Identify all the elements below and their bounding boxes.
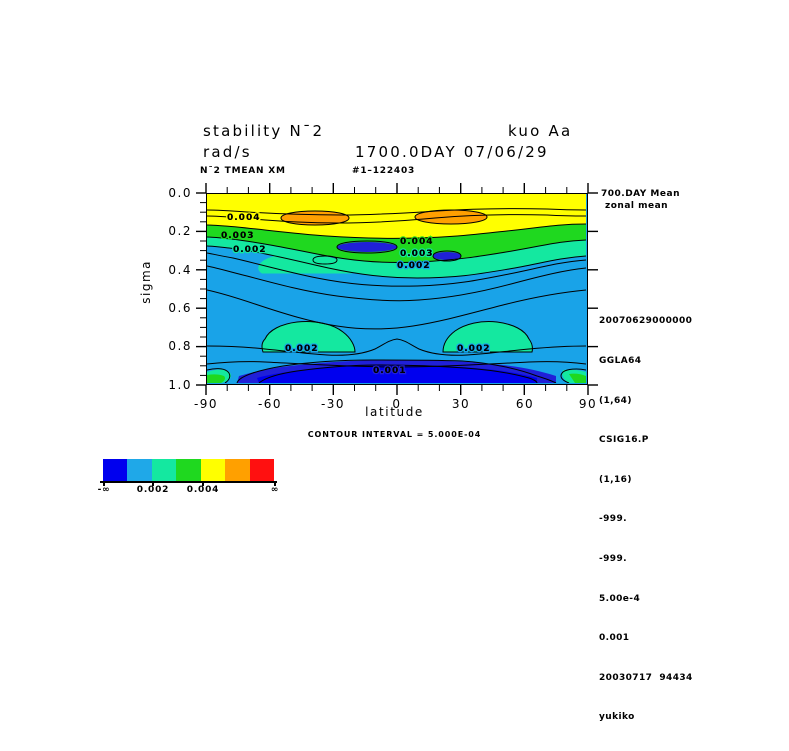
- subtitle-dataset: #1–122403: [352, 166, 415, 176]
- colorbar-swatch: [225, 459, 249, 481]
- ytick-label: 0.6: [152, 301, 192, 315]
- svg-text:0.004: 0.004: [227, 213, 260, 223]
- colorbar-swatch: [201, 459, 225, 481]
- metadata-line: 20030717 94434: [599, 672, 693, 685]
- metadata-line: -999.: [599, 553, 693, 566]
- ytick-label: 0.8: [152, 339, 192, 353]
- svg-text:0.002: 0.002: [285, 344, 318, 354]
- title-units: rad/s: [203, 143, 252, 161]
- colorbar-swatch: [250, 459, 274, 481]
- annotation-mean-period: 700.DAY Mean: [601, 189, 680, 199]
- svg-text:0.003: 0.003: [400, 249, 433, 259]
- svg-text:0.004: 0.004: [400, 237, 433, 247]
- metadata-line: yukiko: [599, 711, 693, 724]
- ytick-label: 0.0: [152, 186, 192, 200]
- contour-field: 0.004 0.004 0.003 0.003 0.002 0.002 0.00…: [207, 194, 586, 383]
- figure-canvas: stability N¯2 kuo Aa rad/s 1700.0DAY 07/…: [0, 0, 789, 558]
- colorbar-rule: [100, 481, 277, 483]
- ytick-label: 0.2: [152, 224, 192, 238]
- metadata-line: -999.: [599, 513, 693, 526]
- svg-text:0.003: 0.003: [221, 231, 254, 241]
- colorbar-label: ∞: [271, 485, 279, 495]
- y-axis-title: sigma: [139, 260, 153, 304]
- metadata-line: 5.00e-4: [599, 593, 693, 606]
- colorbar-label: -∞: [98, 485, 111, 495]
- metadata-line: GGLA64: [599, 355, 693, 368]
- ytick-label: 1.0: [152, 378, 192, 392]
- svg-text:0.002: 0.002: [397, 261, 430, 271]
- colorbar: [103, 459, 274, 481]
- colorbar-swatch: [127, 459, 151, 481]
- subtitle-variable: N¯2 TMEAN XM: [200, 166, 286, 176]
- colorbar-swatch: [176, 459, 200, 481]
- contour-plot-area: 0.004 0.004 0.003 0.003 0.002 0.002 0.00…: [206, 193, 588, 385]
- title-date: 1700.0DAY 07/06/29: [355, 143, 549, 161]
- annotation-zonal-mean: zonal mean: [605, 201, 668, 211]
- colorbar-swatch: [152, 459, 176, 481]
- title-author: kuo Aa: [508, 122, 572, 140]
- svg-text:0.002: 0.002: [457, 344, 490, 354]
- svg-text:0.002: 0.002: [233, 245, 266, 255]
- ytick-label: 0.4: [152, 263, 192, 277]
- metadata-line: (1,16): [599, 474, 693, 487]
- contour-interval-note: CONTOUR INTERVAL = 5.000E-04: [0, 430, 789, 439]
- colorbar-label: 0.002: [137, 485, 169, 495]
- metadata-line: 0.001: [599, 632, 693, 645]
- colorbar-label: 0.004: [187, 485, 219, 495]
- metadata-block: 20070629000000 GGLA64 (1,64) CSIG16.P (1…: [599, 289, 693, 751]
- x-axis-title: latitude: [0, 405, 789, 419]
- svg-text:0.001: 0.001: [373, 366, 406, 376]
- metadata-line: 20070629000000: [599, 315, 693, 328]
- page-title: stability N¯2: [203, 122, 324, 140]
- colorbar-swatch: [103, 459, 127, 481]
